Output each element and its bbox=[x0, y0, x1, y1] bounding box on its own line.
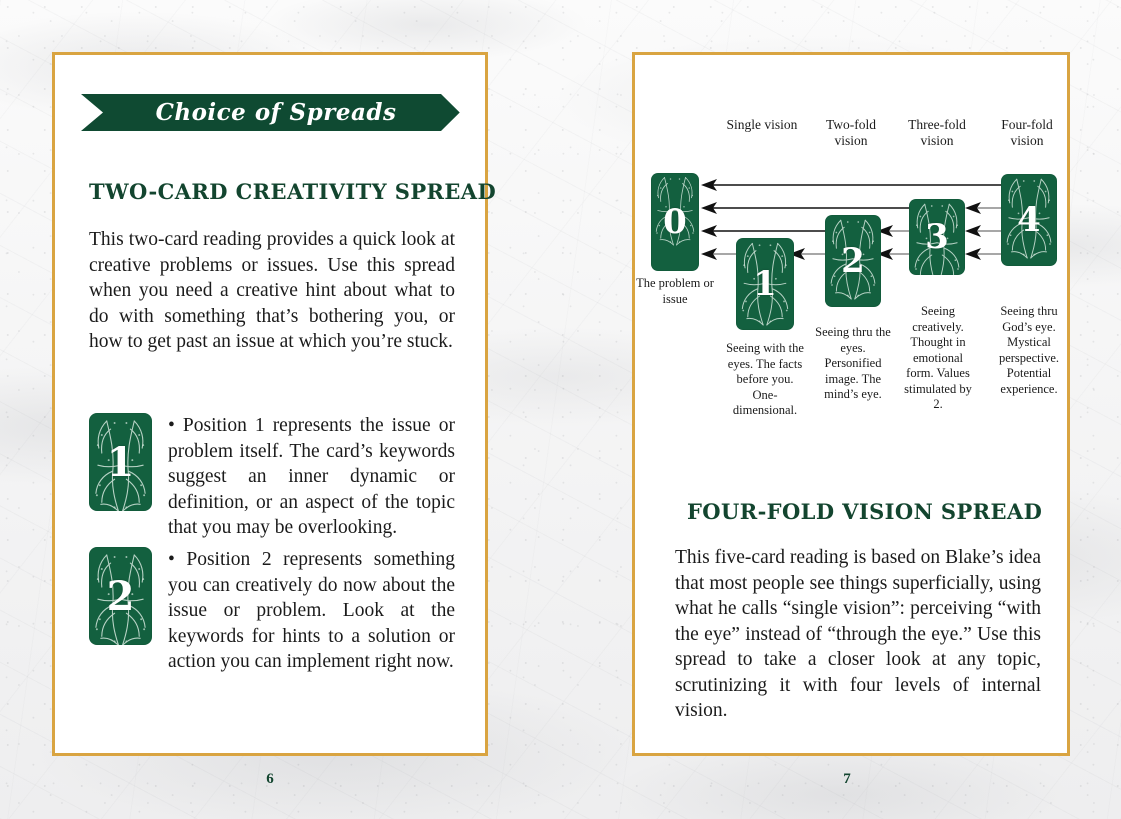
four-fold-spread-heading: FOUR-FOLD VISION SPREAD bbox=[687, 499, 1042, 524]
diagram-card-number: 2 bbox=[825, 215, 881, 307]
page-number-right: 7 bbox=[827, 771, 867, 788]
diagram-card-0: 0 bbox=[651, 173, 699, 271]
diagram-caption-3: Seeing creatively. Thought in emotional … bbox=[898, 304, 978, 413]
diagram-caption-4: Seeing thru God’s eye. Mystical perspect… bbox=[988, 304, 1070, 397]
diagram-card-2: 2 bbox=[825, 215, 881, 307]
diagram-card-number: 4 bbox=[1001, 174, 1057, 266]
tarot-card-position-1: 1 bbox=[89, 413, 152, 511]
chapter-banner-title: Choice of Spreads bbox=[81, 94, 465, 131]
diagram-caption-1: Seeing with the eyes. The facts before y… bbox=[724, 341, 806, 419]
chapter-banner: Choice of Spreads bbox=[81, 94, 465, 131]
left-page: Choice of Spreads TWO-CARD CREATIVITY SP… bbox=[52, 52, 488, 756]
page-number-left: 6 bbox=[250, 771, 290, 788]
position-2-text: • Position 2 represents something you ca… bbox=[168, 547, 455, 675]
tarot-card-number: 2 bbox=[89, 547, 152, 645]
diagram-card-3: 3 bbox=[909, 199, 965, 275]
four-fold-body-paragraph: This five-card reading is based on Blake… bbox=[675, 545, 1041, 724]
two-card-intro-paragraph: This two-card reading provides a quick l… bbox=[89, 227, 455, 355]
position-1-row: 1 • Position 1 represents the issue or p… bbox=[89, 413, 455, 541]
diagram-caption-2: Seeing thru the eyes. Personified image.… bbox=[813, 325, 893, 403]
position-1-text: • Position 1 represents the issue or pro… bbox=[168, 413, 455, 541]
right-page: Single vision Two-fold vision Three-fold… bbox=[632, 52, 1070, 756]
tarot-card-position-2: 2 bbox=[89, 547, 152, 645]
diagram-card-1: 1 bbox=[736, 238, 794, 330]
diagram-card-number: 1 bbox=[736, 238, 794, 330]
diagram-card-number: 3 bbox=[909, 199, 965, 275]
diagram-card-4: 4 bbox=[1001, 174, 1057, 266]
diagram-caption-0: The problem or issue bbox=[635, 276, 715, 307]
position-2-row: 2 • Position 2 represents something you … bbox=[89, 547, 455, 675]
tarot-card-number: 1 bbox=[89, 413, 152, 511]
two-card-spread-heading: TWO-CARD CREATIVITY SPREAD bbox=[89, 179, 496, 204]
diagram-card-number: 0 bbox=[651, 173, 699, 271]
four-fold-vision-diagram: Single vision Two-fold vision Three-fold… bbox=[635, 55, 1073, 475]
